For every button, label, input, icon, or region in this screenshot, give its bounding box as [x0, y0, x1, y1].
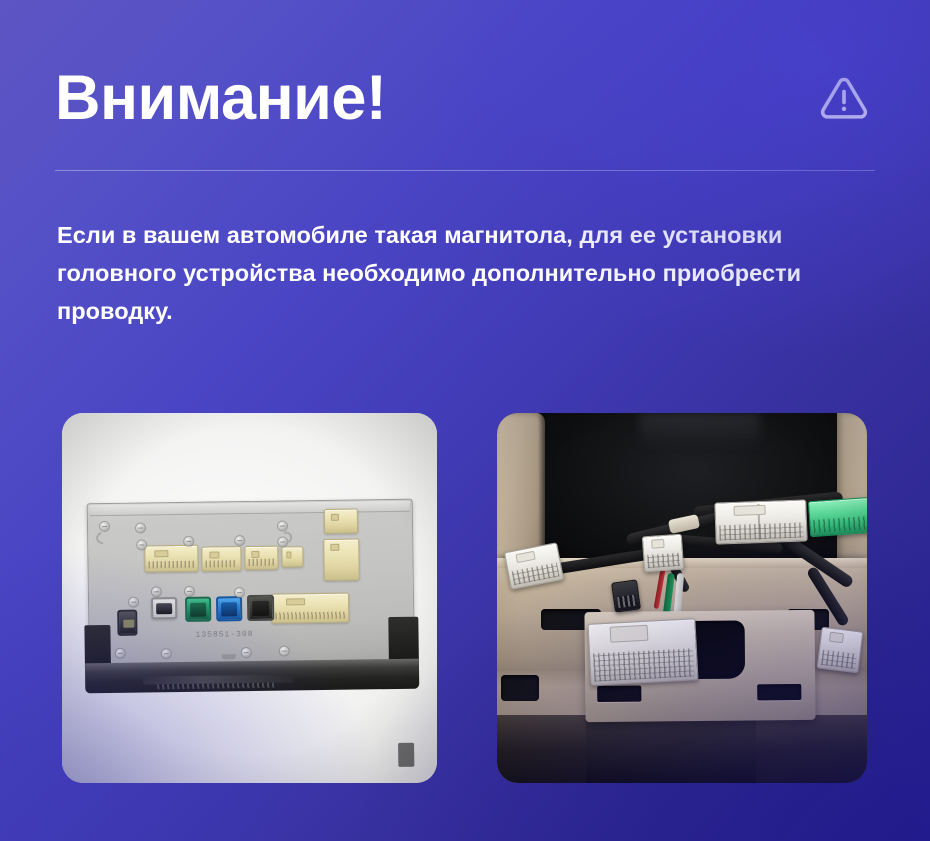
connector-white-double	[714, 499, 807, 544]
chassis-screw	[100, 522, 109, 531]
chassis-screw	[278, 521, 287, 530]
connector-white-mid	[642, 534, 684, 573]
connector-cream-6	[323, 538, 360, 580]
connector-cream-4	[281, 546, 303, 567]
chassis-screw	[129, 598, 138, 607]
banner-header: Внимание!	[55, 52, 875, 144]
connector-green	[808, 497, 867, 537]
port-green	[185, 597, 211, 622]
chassis-notch	[222, 654, 236, 659]
connector-cream-main	[271, 593, 349, 624]
port-blue	[216, 596, 242, 621]
chassis-screw	[136, 523, 145, 532]
chassis-screw	[162, 649, 171, 658]
chassis-screw	[152, 587, 161, 596]
shelf-slot	[597, 686, 641, 702]
board-label: 135851-308	[195, 630, 253, 640]
connector-cream-3	[244, 546, 278, 570]
head-unit-chassis: 135851-308	[87, 499, 416, 696]
chassis-screw	[280, 646, 289, 655]
page-title: Внимание!	[55, 67, 386, 130]
chassis-screw	[242, 648, 251, 657]
chassis-screw	[185, 587, 194, 596]
port-black	[247, 595, 274, 621]
connector-white-large	[587, 618, 698, 686]
connector-cream-1	[144, 545, 198, 573]
chassis-screw	[116, 649, 125, 658]
connector-black-plug	[611, 579, 641, 612]
dashboard-footwell	[497, 715, 867, 783]
chassis-hook	[94, 530, 111, 547]
dashboard-slot	[501, 675, 539, 701]
chassis-screw	[137, 540, 146, 549]
chassis-screw	[235, 588, 244, 597]
connector-cream-2	[201, 546, 241, 572]
banner-body-text: Если в вашем автомобиле такая магнитола,…	[57, 216, 879, 330]
chassis-screw	[184, 537, 193, 546]
connector-white-right	[817, 627, 864, 674]
warning-triangle-icon	[817, 71, 875, 125]
chassis-top-lip	[90, 501, 410, 516]
chassis-screw	[235, 536, 244, 545]
shelf-slot	[757, 684, 801, 700]
port-optical	[117, 610, 137, 636]
dashboard-wiring-harness-photo	[497, 413, 867, 783]
header-divider	[55, 170, 875, 171]
photo-gallery: 135851-308	[62, 413, 867, 783]
attention-banner: Внимание! Если в вашем автомобиле такая …	[0, 0, 930, 841]
dashboard-pillar-left	[497, 413, 545, 565]
port-black-framed	[151, 597, 177, 619]
connector-cream-5	[324, 509, 358, 534]
chassis-bottom	[85, 659, 419, 694]
head-unit-rear-photo: 135851-308	[62, 413, 437, 783]
chassis-plate: 135851-308	[87, 499, 415, 672]
